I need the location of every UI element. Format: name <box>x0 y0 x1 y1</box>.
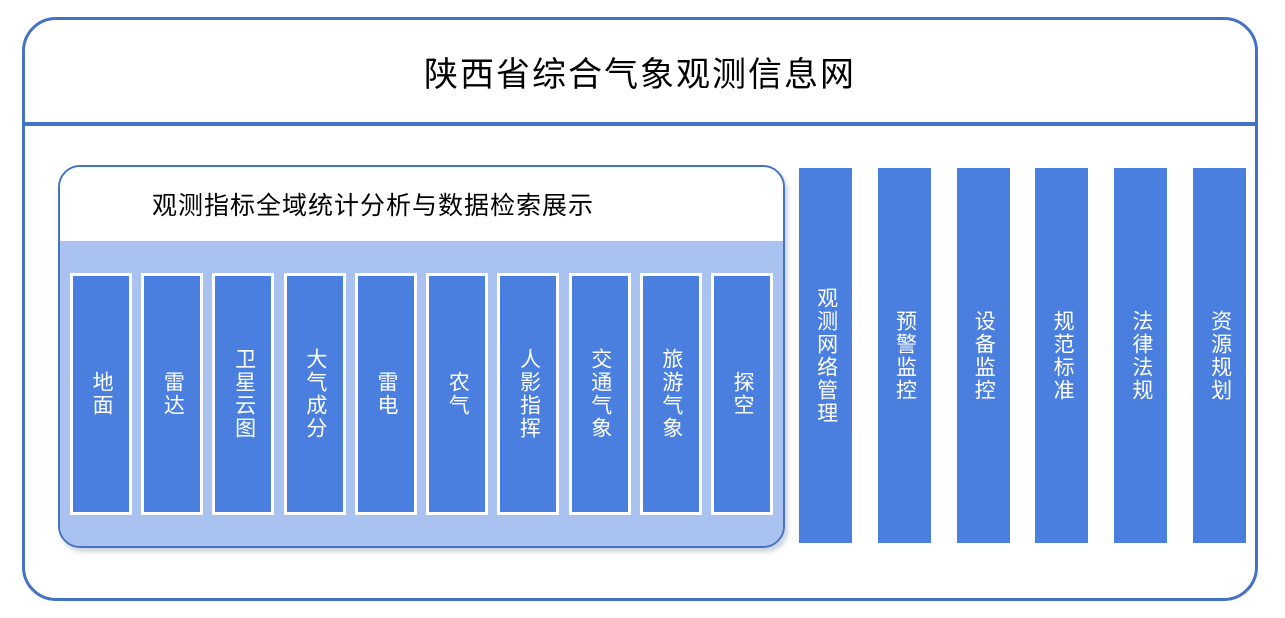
observation-item-radar[interactable]: 雷达 <box>141 273 203 515</box>
observation-item-label: 人影指挥 <box>516 348 540 440</box>
observation-item-tourism-meteorology[interactable]: 旅游气象 <box>640 273 702 515</box>
observation-item-sounding[interactable]: 探空 <box>711 273 773 515</box>
left-panel: 观测指标全域统计分析与数据检索展示 地面 雷达 卫星云图 大气成分 雷电 农气 … <box>58 165 785 548</box>
page-title: 陕西省综合气象观测信息网 <box>424 47 856 96</box>
right-column-label: 规范标准 <box>1050 310 1074 402</box>
right-column-label: 观测网络管理 <box>813 287 837 425</box>
right-column-specification-standards[interactable]: 规范标准 <box>1035 168 1088 543</box>
observation-item-label: 探空 <box>730 371 754 417</box>
right-column-resource-planning[interactable]: 资源规划 <box>1193 168 1246 543</box>
left-panel-title: 观测指标全域统计分析与数据检索展示 <box>152 186 594 222</box>
right-column-laws-and-regulations[interactable]: 法律法规 <box>1114 168 1167 543</box>
observation-item-agrometeorology[interactable]: 农气 <box>426 273 488 515</box>
observation-item-label: 雷电 <box>374 371 398 417</box>
title-divider <box>25 122 1255 126</box>
observation-item-label: 大气成分 <box>302 348 326 440</box>
observation-item-lightning[interactable]: 雷电 <box>355 273 417 515</box>
right-column-label: 资源规划 <box>1207 310 1231 402</box>
observation-item-traffic-meteorology[interactable]: 交通气象 <box>569 273 631 515</box>
right-column-label: 法律法规 <box>1129 310 1153 402</box>
right-column-warning-monitoring[interactable]: 预警监控 <box>878 168 931 543</box>
left-panel-header: 观测指标全域统计分析与数据检索展示 <box>60 167 783 241</box>
observation-item-atmospheric-composition[interactable]: 大气成分 <box>284 273 346 515</box>
observation-item-label: 雷达 <box>160 371 184 417</box>
observation-item-label: 地面 <box>89 371 113 417</box>
observation-item-satellite-cloud-image[interactable]: 卫星云图 <box>212 273 274 515</box>
observation-item-label: 交通气象 <box>587 348 611 440</box>
left-panel-body: 地面 雷达 卫星云图 大气成分 雷电 农气 人影指挥 交通气象 <box>60 241 783 546</box>
right-column-equipment-monitoring[interactable]: 设备监控 <box>957 168 1010 543</box>
right-column-label: 预警监控 <box>892 310 916 402</box>
observation-item-label: 卫星云图 <box>231 348 255 440</box>
right-column-label: 设备监控 <box>971 310 995 402</box>
title-bar: 陕西省综合气象观测信息网 <box>25 20 1255 122</box>
observation-item-weather-modification-command[interactable]: 人影指挥 <box>497 273 559 515</box>
observation-item-ground[interactable]: 地面 <box>70 273 132 515</box>
right-column-observation-network-management[interactable]: 观测网络管理 <box>799 168 852 543</box>
observation-item-label: 旅游气象 <box>659 348 683 440</box>
right-columns: 观测网络管理 预警监控 设备监控 规范标准 法律法规 资源规划 <box>799 168 1246 543</box>
outer-frame: 陕西省综合气象观测信息网 观测指标全域统计分析与数据检索展示 地面 雷达 卫星云… <box>22 17 1258 601</box>
observation-item-label: 农气 <box>445 371 469 417</box>
